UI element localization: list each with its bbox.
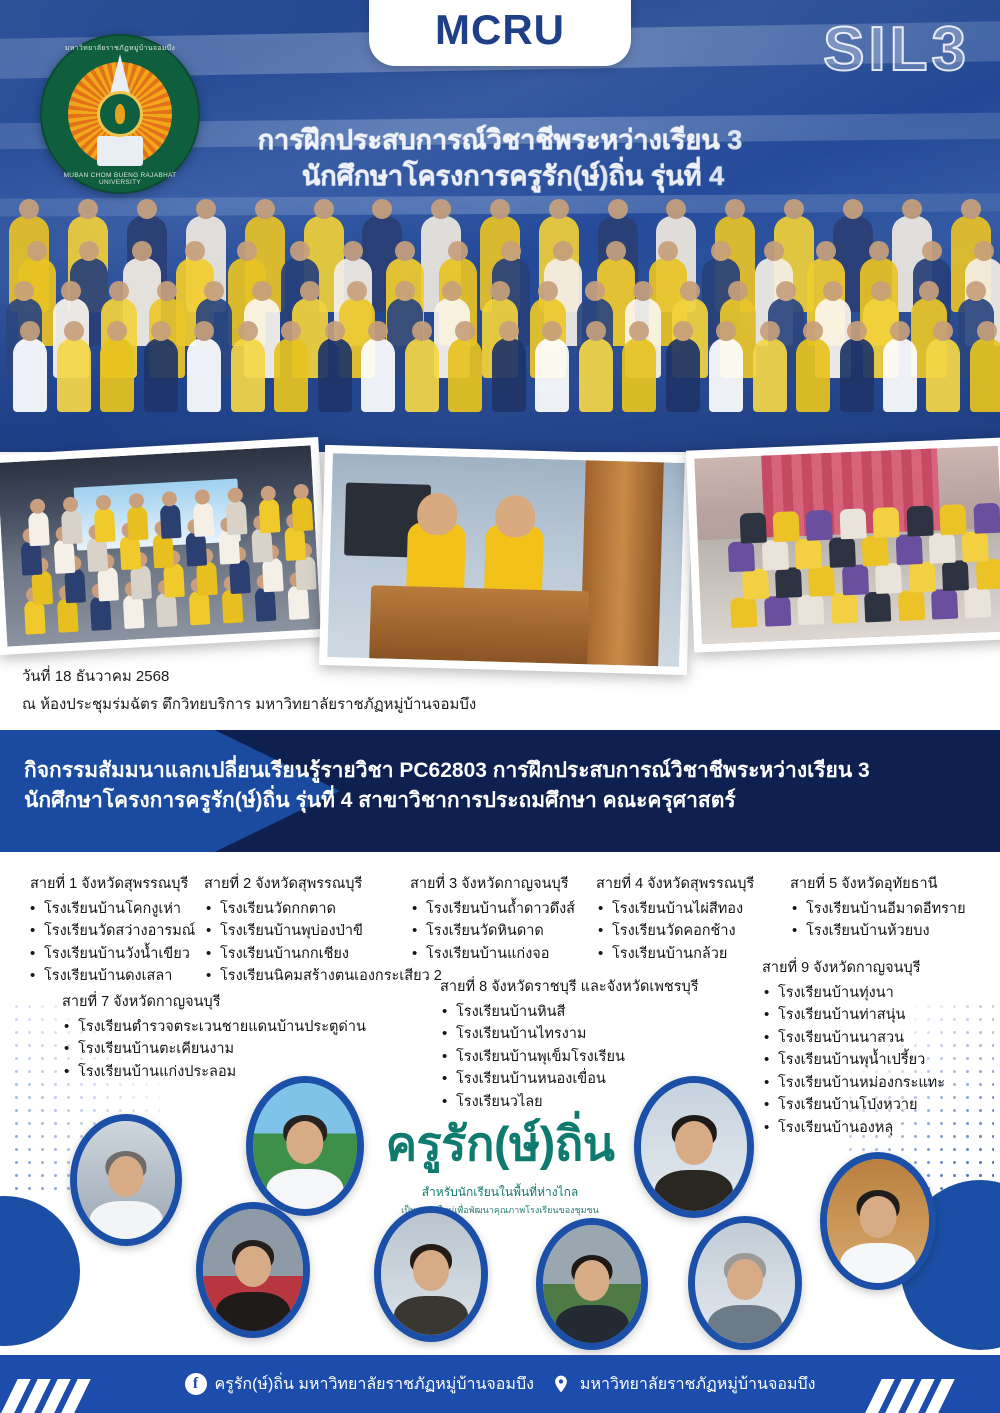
footer-bar: f ครูรัก(ษ์)ถิ่น มหาวิทยาลัยราชภัฏหมู่บ้… — [0, 1355, 1000, 1413]
audience-person — [895, 534, 922, 565]
portrait-torso — [394, 1296, 468, 1342]
photo-hall-scene — [694, 446, 1000, 645]
portrait-torso — [708, 1305, 782, 1350]
portrait-torso — [655, 1170, 733, 1218]
audience-person — [975, 559, 1000, 590]
audience-person — [764, 596, 791, 627]
portrait-circle-4 — [820, 1152, 936, 1290]
school-item: โรงเรียนบ้านโคกงูเห่า — [28, 898, 228, 920]
school-group-3: สายที่ 3 จังหวัดกาญจนบุรี โรงเรียนบ้านถ้… — [410, 872, 600, 965]
footer-location[interactable]: มหาวิทยาลัยราชภัฏหมู่บ้านจอมบึง — [550, 1372, 816, 1397]
audience-person — [221, 588, 243, 623]
photo-students-presenting — [319, 445, 693, 675]
school-item: โรงเรียนบ้านท่าสนุ่น — [762, 1004, 992, 1026]
audience-person — [155, 592, 177, 627]
audience-person — [731, 597, 758, 628]
portrait-torso — [216, 1292, 290, 1338]
wooden-podium — [369, 585, 589, 665]
portrait-torso — [556, 1305, 629, 1350]
audience-person — [160, 503, 182, 538]
portrait-circle-1 — [70, 1114, 182, 1246]
school-group-5: สายที่ 5 จังหวัดอุทัยธานี โรงเรียนบ้านอี… — [790, 872, 990, 943]
audience-person — [28, 511, 50, 546]
school-item: โรงเรียนวัดหินดาด — [410, 920, 600, 942]
wood-panel — [581, 460, 664, 666]
audience-person — [940, 505, 967, 536]
photo-inner — [327, 453, 685, 667]
crowd-person — [187, 338, 221, 412]
audience-person — [61, 509, 83, 544]
crowd-person — [231, 338, 265, 412]
crowd-person — [100, 338, 134, 412]
main-title-banner: กิจกรรมสัมมนาแลกเปลี่ยนเรียนรู้รายวิชา P… — [0, 730, 1000, 852]
audience-person — [94, 507, 116, 542]
portrait-face — [675, 1121, 713, 1165]
audience-person — [291, 496, 313, 531]
audience-person — [287, 585, 309, 620]
hero-photo-banner: มหาวิทยาลัยราชภัฏหมู่บ้านจอมบึง MUBAN CH… — [0, 0, 1000, 452]
crowd-person — [492, 338, 526, 412]
group-heading: สายที่ 9 จังหวัดกาญจนบุรี — [762, 956, 992, 979]
hero-title: การฝึกประสบการณ์วิชาชีพระหว่างเรียน 3 นั… — [0, 122, 1000, 194]
audience-person — [739, 513, 766, 544]
school-group-7: สายที่ 7 จังหวัดกาญจนบุรี โรงเรียนตำรวจต… — [62, 990, 392, 1083]
audience-person — [973, 503, 1000, 534]
audience-person — [864, 591, 891, 622]
group-heading: สายที่ 4 จังหวัดสุพรรณบุรี — [596, 872, 786, 895]
seal-thai-text: มหาวิทยาลัยราชภัฏหมู่บ้านจอมบึง — [42, 43, 198, 54]
portrait-face — [727, 1259, 763, 1300]
audience-person — [20, 541, 42, 576]
audience-person — [773, 512, 800, 543]
audience-person — [226, 500, 248, 535]
audience-person — [906, 506, 933, 537]
school-item: โรงเรียนบ้านนาสวน — [762, 1027, 992, 1049]
audience-person — [797, 594, 824, 625]
school-group-2: สายที่ 2 จังหวัดสุพรรณบุรี โรงเรียนวัดกก… — [204, 872, 444, 988]
crowd-person — [840, 338, 874, 412]
crowd-person — [753, 338, 787, 412]
crowd-person — [535, 338, 569, 412]
mcru-brand-tab: MCRU — [369, 0, 631, 66]
portrait-circle-2 — [246, 1076, 364, 1216]
photo-podium-scene — [327, 453, 685, 667]
audience-person — [929, 533, 956, 564]
portrait-face — [108, 1156, 143, 1196]
photo-inner — [0, 445, 321, 646]
audience-person — [839, 509, 866, 540]
school-list: โรงเรียนบ้านถ้ำดาวดึงส์ โรงเรียนวัดหินดา… — [410, 898, 600, 965]
group-heading: สายที่ 5 จังหวัดอุทัยธานี — [790, 872, 990, 895]
event-datetime-block: วันที่ 18 ธันวาคม 2568 ณ ห้องประชุมร่มฉั… — [22, 664, 476, 716]
audience-person — [762, 540, 789, 571]
hero-title-line2: นักศึกษาโครงการครูรัก(ษ์)ถิ่น รุ่นที่ 4 — [0, 158, 1000, 194]
audience-person — [942, 560, 969, 591]
audience-person — [898, 590, 925, 621]
audience-person — [862, 536, 889, 567]
audience-person — [24, 599, 46, 634]
portrait-torso — [840, 1243, 915, 1290]
school-item: โรงเรียนบ้านถ้ำดาวดึงส์ — [410, 898, 600, 920]
school-item: โรงเรียนบ้านวังน้ำเขียว — [28, 943, 228, 965]
event-venue: ณ ห้องประชุมร่มฉัตร ตึกวิทยบริการ มหาวิท… — [22, 692, 476, 716]
portrait-circle-6 — [374, 1206, 488, 1342]
audience-person — [728, 541, 755, 572]
portrait-face — [286, 1121, 323, 1164]
group-heading: สายที่ 1 จังหวัดสุพรรณบุรี — [28, 872, 228, 895]
group-heading: สายที่ 3 จังหวัดกาญจนบุรี — [410, 872, 600, 895]
audience-person — [842, 565, 869, 596]
school-list: โรงเรียนวัดกกตาด โรงเรียนบ้านพุบ่องป่าขี… — [204, 898, 444, 988]
school-item: โรงเรียนบ้านห้วยบง — [790, 920, 990, 942]
crowd-person — [405, 338, 439, 412]
school-item: โรงเรียนบ้านดงเสลา — [28, 965, 228, 987]
crowd-person — [796, 338, 830, 412]
school-list: โรงเรียนบ้านไผ่สีทอง โรงเรียนวัดคอกช้าง … — [596, 898, 786, 965]
portrait-face — [574, 1260, 609, 1300]
crowd-person — [144, 338, 178, 412]
school-item: โรงเรียนวัดกกตาด — [204, 898, 444, 920]
audience-person — [254, 587, 276, 622]
audience-person — [119, 535, 141, 570]
school-group-4: สายที่ 4 จังหวัดสุพรรณบุรี โรงเรียนบ้านไ… — [596, 872, 786, 965]
school-item: โรงเรียนวัดคอกช้าง — [596, 920, 786, 942]
crowd-person — [13, 338, 47, 412]
audience-person — [284, 526, 306, 561]
crowd-person — [579, 338, 613, 412]
portrait-face — [860, 1196, 897, 1238]
school-list: โรงเรียนบ้านอีมาดอีทราย โรงเรียนบ้านห้วย… — [790, 898, 990, 943]
audience-person — [251, 528, 273, 563]
crowd-person — [666, 338, 700, 412]
school-item: โรงเรียนบ้านพุเข็มโรงเรียน — [440, 1046, 760, 1068]
audience-person — [218, 530, 240, 565]
banner-line2: นักศึกษาโครงการครูรัก(ษ์)ถิ่น รุ่นที่ 4 … — [24, 786, 974, 816]
audience-person — [962, 532, 989, 563]
banner-text: กิจกรรมสัมมนาแลกเปลี่ยนเรียนรู้รายวิชา P… — [24, 756, 974, 817]
facebook-icon[interactable]: f — [185, 1373, 207, 1395]
photo-inner — [694, 446, 1000, 645]
audience-person — [931, 589, 958, 620]
school-item: โรงเรียนวัดสว่างอารมณ์ — [28, 920, 228, 942]
sil3-badge: SIL3 — [823, 14, 970, 85]
footer-facebook-label: ครูรัก(ษ์)ถิ่น มหาวิทยาลัยราชภัฏหมู่บ้าน… — [215, 1372, 534, 1397]
school-item: โรงเรียนบ้านทุ่งนา — [762, 982, 992, 1004]
crowd-person — [448, 338, 482, 412]
audience-person — [875, 563, 902, 594]
audience-person — [831, 593, 858, 624]
audience-person — [86, 537, 108, 572]
audience-person — [185, 532, 207, 567]
footer-stripes-right — [872, 1379, 992, 1413]
banner-line1: กิจกรรมสัมมนาแลกเปลี่ยนเรียนรู้รายวิชา P… — [24, 756, 974, 786]
photo-conference-room — [0, 445, 321, 646]
audience-person — [90, 596, 112, 631]
portrait-circle-8 — [688, 1216, 802, 1350]
crowd-person — [318, 338, 352, 412]
location-pin-icon[interactable] — [550, 1373, 572, 1395]
photo-group-audience — [0, 437, 329, 655]
school-item: โรงเรียนบ้านอีมาดอีทราย — [790, 898, 990, 920]
photo-lecture-hall — [686, 437, 1000, 652]
school-item: โรงเรียนบ้านพุน้ำเปรี้ยว — [762, 1049, 992, 1071]
audience-person — [53, 539, 75, 574]
mcru-label: MCRU — [435, 6, 565, 54]
crowd-person — [926, 338, 960, 412]
footer-facebook[interactable]: f ครูรัก(ษ์)ถิ่น มหาวิทยาลัยราชภัฏหมู่บ้… — [185, 1372, 534, 1397]
footer-stripes-left — [8, 1379, 128, 1413]
crowd-person — [622, 338, 656, 412]
crowd-person — [57, 338, 91, 412]
audience-person — [795, 539, 822, 570]
audience-person — [873, 507, 900, 538]
audience-person — [188, 590, 210, 625]
audience-person — [57, 598, 79, 633]
school-item: โรงเรียนตำรวจตระเวนชายแดนบ้านประตูด่าน — [62, 1016, 392, 1038]
school-item: โรงเรียนบ้านแก่งจอ — [410, 943, 600, 965]
group-heading: สายที่ 7 จังหวัดกาญจนบุรี — [62, 990, 392, 1013]
footer-location-label: มหาวิทยาลัยราชภัฏหมู่บ้านจอมบึง — [580, 1372, 816, 1397]
portrait-circle-5 — [196, 1202, 310, 1338]
school-item: โรงเรียนบ้านตะเคียนงาม — [62, 1038, 392, 1060]
school-item: โรงเรียนบ้านกกเชียง — [204, 943, 444, 965]
audience-person — [775, 567, 802, 598]
event-date: วันที่ 18 ธันวาคม 2568 — [22, 664, 476, 688]
audience-person — [909, 562, 936, 593]
school-item: โรงเรียนบ้านหม่องกระแทะ — [762, 1072, 992, 1094]
school-list: โรงเรียนตำรวจตระเวนชายแดนบ้านประตูด่าน โ… — [62, 1016, 392, 1083]
blue-blob-left — [0, 1196, 80, 1346]
school-item: โรงเรียนบ้านกล้วย — [596, 943, 786, 965]
audience-person — [806, 510, 833, 541]
portrait-circle-7 — [536, 1218, 648, 1350]
school-item: โรงเรียนบ้านไทรงาม — [440, 1023, 760, 1045]
audience-person — [741, 569, 768, 600]
school-item: โรงเรียนบ้านหินสี — [440, 1001, 760, 1023]
crowd-person — [970, 338, 1000, 412]
school-list: โรงเรียนบ้านโคกงูเห่า โรงเรียนวัดสว่างอา… — [28, 898, 228, 988]
crowd-person — [709, 338, 743, 412]
audience-person — [259, 498, 281, 533]
school-item: โรงเรียนนิคมสร้างตนเองกระเสียว 2 — [204, 965, 444, 987]
audience-person — [964, 587, 991, 618]
audience-person — [193, 502, 215, 537]
group-heading: สายที่ 8 จังหวัดราชบุรี และจังหวัดเพชรบุ… — [440, 975, 760, 998]
crowd-person — [274, 338, 308, 412]
audience-person — [122, 594, 144, 629]
school-item: โรงเรียนบ้านแก่งประลอม — [62, 1061, 392, 1083]
school-item: โรงเรียนบ้านพุบ่องป่าขี — [204, 920, 444, 942]
school-item: โรงเรียนบ้านไผ่สีทอง — [596, 898, 786, 920]
crowd-person — [361, 338, 395, 412]
school-group-1: สายที่ 1 จังหวัดสุพรรณบุรี โรงเรียนบ้านโ… — [28, 872, 228, 988]
audience-person — [828, 537, 855, 568]
portrait-torso — [90, 1201, 163, 1246]
group-heading: สายที่ 2 จังหวัดสุพรรณบุรี — [204, 872, 444, 895]
poster-root: มหาวิทยาลัยราชภัฏหมู่บ้านจอมบึง MUBAN CH… — [0, 0, 1000, 1413]
crowd-person — [883, 338, 917, 412]
audience-person — [808, 566, 835, 597]
school-groups-section: สายที่ 1 จังหวัดสุพรรณบุรี โรงเรียนบ้านโ… — [0, 872, 1000, 1122]
hero-title-line1: การฝึกประสบการณ์วิชาชีพระหว่างเรียน 3 — [0, 122, 1000, 158]
audience-person — [152, 533, 174, 568]
audience-person — [127, 505, 149, 540]
portrait-circle-3 — [634, 1076, 754, 1218]
